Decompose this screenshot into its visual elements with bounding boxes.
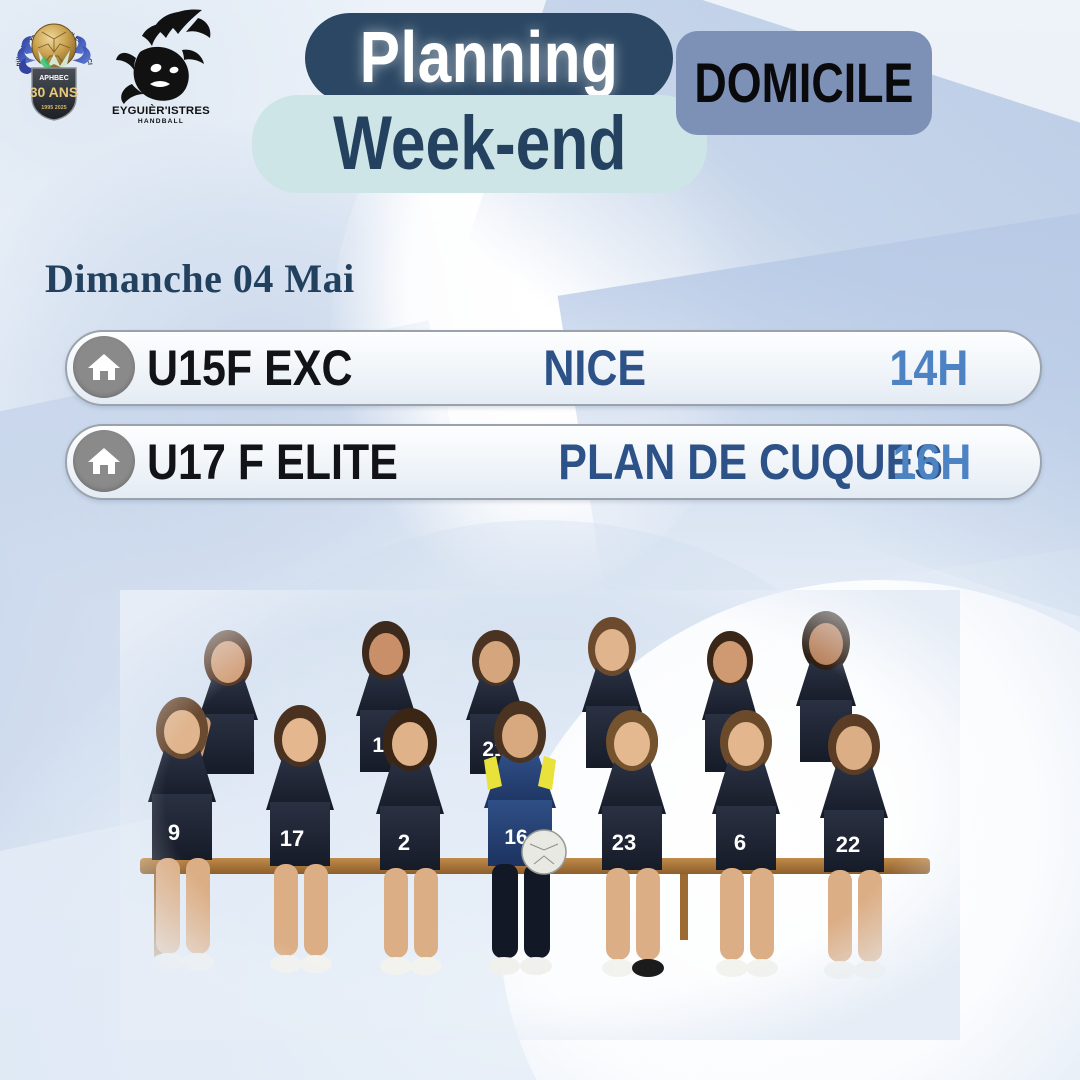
poster-root: Alpilles Provence Handball Entente Club xyxy=(0,0,1080,1080)
match-category: U17 F ELITE xyxy=(147,437,398,487)
home-icon xyxy=(73,336,135,398)
table-row[interactable]: U15F EXC NICE 14H xyxy=(65,330,1042,406)
page-title: Planning xyxy=(360,22,619,94)
match-category: U15F EXC xyxy=(147,343,353,393)
match-opponent: PLAN DE CUQUES xyxy=(558,437,943,487)
status-badge: DOMICILE xyxy=(676,31,932,135)
match-time: 14H xyxy=(890,343,969,393)
badge-label: DOMICILE xyxy=(695,55,914,111)
title-weekend-pill: Week-end xyxy=(252,95,707,193)
team-photo: 13 21 xyxy=(120,590,960,1040)
match-opponent: NICE xyxy=(543,343,646,393)
poster-header: Planning Week-end DOMICILE xyxy=(0,0,1080,205)
table-row[interactable]: U17 F ELITE PLAN DE CUQUES 16H xyxy=(65,424,1042,500)
home-icon xyxy=(73,430,135,492)
match-time: 16H xyxy=(893,437,972,487)
match-list: U15F EXC NICE 14H U17 F ELITE PLAN DE CU… xyxy=(0,330,1080,518)
page-subtitle: Week-end xyxy=(333,106,626,182)
date-heading: Dimanche 04 Mai xyxy=(45,255,355,302)
title-planning-pill: Planning xyxy=(305,13,673,103)
